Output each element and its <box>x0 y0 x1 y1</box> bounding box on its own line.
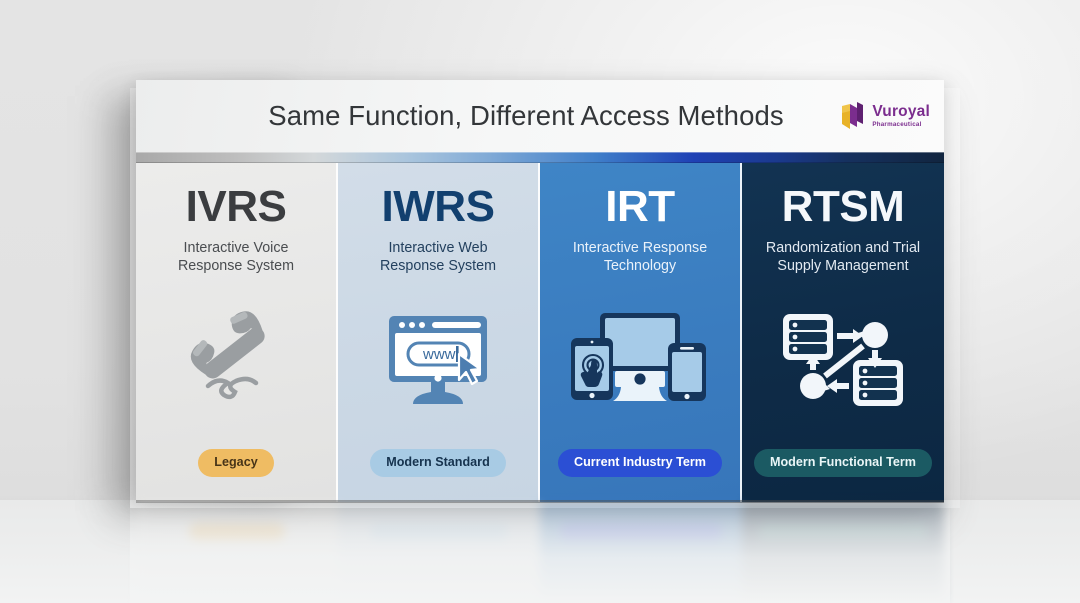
acronym-irt: IRT <box>605 185 674 229</box>
web-browser-monitor-icon: www <box>383 310 493 410</box>
brand-tagline: Pharmaceutical <box>872 122 930 128</box>
brand-name: Vuroyal <box>872 104 930 120</box>
browser-url-text: www <box>422 346 456 363</box>
poster-header: Same Function, Different Access Methods … <box>136 80 944 152</box>
expansion-line-2: Supply Management <box>766 257 920 275</box>
expansion-ivrs: Interactive Voice Response System <box>172 239 300 275</box>
expansion-iwrs: Interactive Web Response System <box>374 239 502 275</box>
status-badge-irt[interactable]: Current Industry Term <box>558 449 722 477</box>
status-badge-ivrs[interactable]: Legacy <box>198 449 273 477</box>
icon-container-rtsm <box>742 275 944 449</box>
status-badge-iwrs[interactable]: Modern Standard <box>370 449 506 477</box>
expansion-line-1: Interactive Response <box>573 239 707 257</box>
accent-gradient-rule <box>136 152 944 163</box>
icon-container-irt <box>540 275 740 449</box>
expansion-line-2: Technology <box>573 257 707 275</box>
poster-bottom-edge <box>136 500 944 503</box>
expansion-line-1: Interactive Voice <box>178 239 294 257</box>
expansion-irt: Interactive Response Technology <box>567 239 713 275</box>
column-rtsm[interactable]: RTSM Randomization and Trial Supply Mana… <box>742 163 944 502</box>
multi-device-touch-icon <box>569 310 711 410</box>
acronym-iwrs: IWRS <box>382 185 495 229</box>
column-irt[interactable]: IRT Interactive Response Technology <box>540 163 742 502</box>
acronym-ivrs: IVRS <box>186 185 287 229</box>
expansion-rtsm: Randomization and Trial Supply Managemen… <box>760 239 926 275</box>
status-badge-rtsm[interactable]: Modern Functional Term <box>754 449 932 477</box>
database-network-flow-icon <box>777 310 909 410</box>
telephone-handset-icon <box>184 310 288 410</box>
icon-container-iwrs: www <box>338 275 538 449</box>
vuroyal-logo-mark-icon <box>839 101 867 131</box>
scene: Same Function, Different Access Methods … <box>0 0 1080 603</box>
poster-board: Same Function, Different Access Methods … <box>136 80 944 502</box>
expansion-line-2: Response System <box>380 257 496 275</box>
expansion-line-2: Response System <box>178 257 294 275</box>
column-ivrs[interactable]: IVRS Interactive Voice Response System <box>136 163 338 502</box>
icon-container-ivrs <box>136 275 336 449</box>
page-title: Same Function, Different Access Methods <box>268 100 783 132</box>
brand-logo-text: Vuroyal Pharmaceutical <box>872 104 930 128</box>
acronym-rtsm: RTSM <box>782 185 905 229</box>
floor-surface <box>0 500 1080 603</box>
expansion-line-1: Interactive Web <box>380 239 496 257</box>
column-iwrs[interactable]: IWRS Interactive Web Response System <box>338 163 540 502</box>
expansion-line-1: Randomization and Trial <box>766 239 920 257</box>
brand-logo: Vuroyal Pharmaceutical <box>839 101 930 131</box>
comparison-columns: IVRS Interactive Voice Response System <box>136 163 944 502</box>
